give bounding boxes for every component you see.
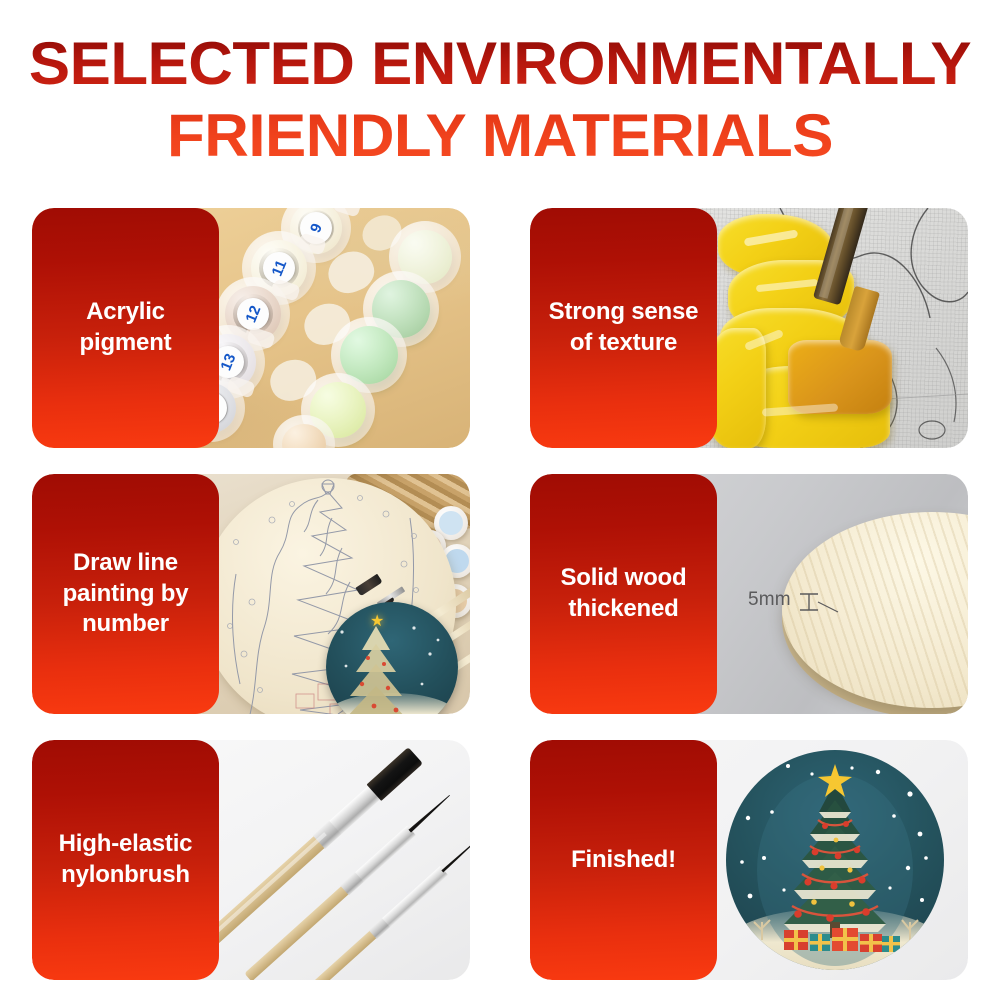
christmas-tree-illustration xyxy=(726,750,944,970)
acrylic-pigment-label: Acrylic pigment xyxy=(74,297,178,358)
dimension-bracket-icon xyxy=(796,590,840,624)
nylonbrush-label-panel: High-elastic nylonbrush xyxy=(32,740,219,980)
acrylic-pigment-label-panel: Acrylic pigment xyxy=(32,208,219,448)
label-line: Strong sense xyxy=(549,298,699,325)
label-line: pigment xyxy=(80,329,172,356)
feature-card-draw-line-painting-by-number[interactable]: ★ xyxy=(32,474,470,714)
feature-card-grid: 9 11 12 13 4 xyxy=(32,208,968,960)
label-line: number xyxy=(82,610,169,637)
label-line: Draw line xyxy=(73,549,178,576)
label-line: thickened xyxy=(568,595,678,622)
texture-label-panel: Strong sense of texture xyxy=(530,208,717,448)
page-title-line-2: FRIENDLY MATERIALS xyxy=(0,106,1000,166)
feature-card-high-elastic-nylonbrush[interactable]: High-elastic nylonbrush xyxy=(32,740,470,980)
promo-infographic: SELECTED ENVIRONMENTALLY FRIENDLY MATERI… xyxy=(0,0,1000,1000)
draw-line-label-panel: Draw line painting by number xyxy=(32,474,219,714)
label-line: of texture xyxy=(570,329,677,356)
page-title-line-1: SELECTED ENVIRONMENTALLY xyxy=(0,34,1000,94)
label-line: Solid wood xyxy=(561,564,687,591)
texture-label: Strong sense of texture xyxy=(543,297,705,358)
draw-line-label: Draw line painting by number xyxy=(57,548,195,640)
finished-preview-inset: ★ xyxy=(326,602,458,714)
finished-label: Finished! xyxy=(565,845,682,876)
label-line: High-elastic xyxy=(59,830,193,857)
label-line: painting by xyxy=(63,580,189,607)
thickness-dimension-label: 5mm xyxy=(748,589,791,611)
feature-card-acrylic-pigment[interactable]: 9 11 12 13 4 xyxy=(32,208,470,448)
label-line: nylonbrush xyxy=(61,861,190,888)
feature-card-strong-sense-of-texture[interactable]: Strong sense of texture xyxy=(530,208,968,448)
label-line: Finished! xyxy=(571,846,676,873)
finished-label-panel: Finished! xyxy=(530,740,717,980)
feature-card-solid-wood-thickened[interactable]: 5mm Solid wood thickened xyxy=(530,474,968,714)
solid-wood-label: Solid wood thickened xyxy=(555,563,693,624)
feature-card-finished[interactable]: Finished! xyxy=(530,740,968,980)
label-line: Acrylic xyxy=(86,298,165,325)
page-title: SELECTED ENVIRONMENTALLY FRIENDLY MATERI… xyxy=(0,34,1000,166)
nylonbrush-label: High-elastic nylonbrush xyxy=(53,829,199,890)
solid-wood-label-panel: Solid wood thickened xyxy=(530,474,717,714)
finished-painting-circle xyxy=(726,750,944,970)
